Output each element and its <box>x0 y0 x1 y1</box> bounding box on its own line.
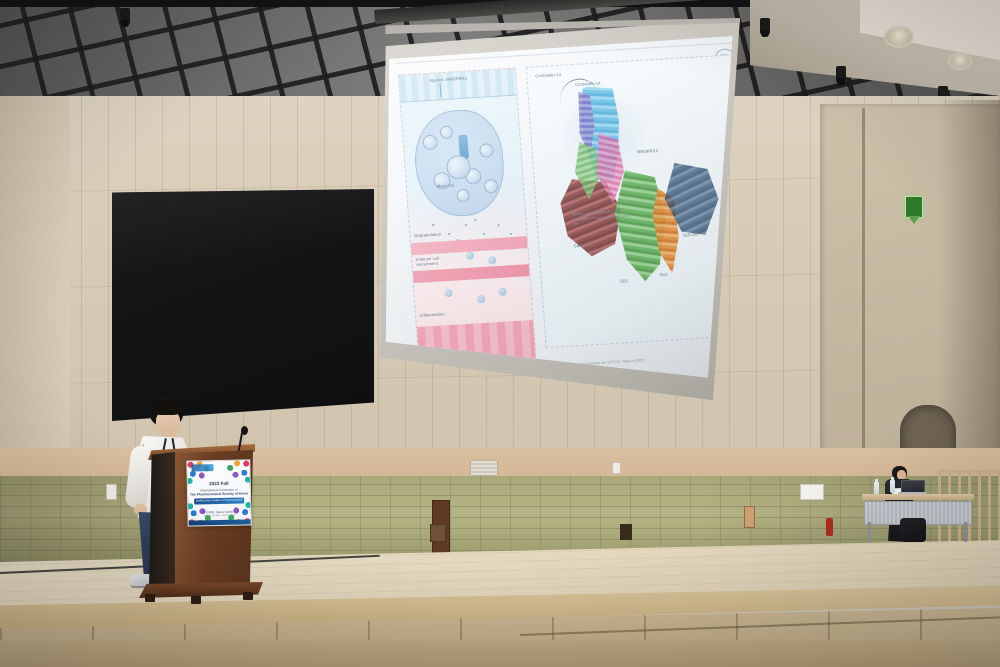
stage-floor-box <box>620 524 632 540</box>
water-bottle-icon <box>890 480 895 493</box>
can-light-icon <box>884 26 914 48</box>
can-light-icon <box>948 52 972 70</box>
ligand-label: Cortistatin-14 <box>535 72 561 79</box>
subpanel-ligand-label: Cortistatin-14 <box>575 80 601 87</box>
exit-sign-icon <box>905 196 923 218</box>
tissue-band <box>413 264 530 283</box>
podium-caster <box>191 596 201 604</box>
right-wall-edge <box>862 108 865 458</box>
panel-sheen <box>112 189 374 421</box>
conference-banner: 2023 Fall International Convention of Th… <box>186 459 251 526</box>
table-leg <box>868 522 871 542</box>
banner-theme-strip: Building the Frontiers of Pharmaceutical… <box>194 497 244 504</box>
presenter-fringe <box>151 400 182 415</box>
mast-cell-label: Mast cell <box>437 183 454 189</box>
binding-pocket-panel: Cortistatin-14 Binding pocket of MRGPRX2… <box>563 77 639 250</box>
microphone-icon <box>241 426 248 435</box>
granule <box>484 179 499 194</box>
stage-floor-box <box>430 524 446 542</box>
immune-cell-icon <box>444 289 453 297</box>
immune-cell-icon <box>498 288 507 296</box>
banner-year: 2023 Fall <box>188 480 250 486</box>
immune-cell-icon <box>477 295 486 303</box>
granule <box>456 189 470 203</box>
psk-logo-icon <box>191 464 213 471</box>
table-leg <box>964 522 967 542</box>
receptor-label: MRGPRX2 <box>637 148 658 154</box>
granule <box>422 134 438 150</box>
wall-vent-icon <box>470 460 498 476</box>
scfv-label: ScFv16 <box>683 232 698 238</box>
recruitment-label: Immune cell recruitment <box>416 254 459 267</box>
wall-notice-sign <box>800 484 824 500</box>
projected-slide-area: Structure and function of Mas-related G … <box>384 34 736 392</box>
fire-extinguisher-icon <box>826 518 833 536</box>
subpanel-caption: Binding pocket of MRGPRX2 with Cortistat… <box>572 209 635 228</box>
podium-caster <box>243 592 253 600</box>
projection-screen[interactable]: Structure and function of Mas-related G … <box>380 18 740 408</box>
stage-floor-box <box>744 506 755 528</box>
mast-cell-panel: Agonist: MRGPRX2 Mast cell D <box>398 68 537 368</box>
hall-floor <box>0 640 1000 667</box>
immune-cell-icon <box>466 251 475 259</box>
immune-cell-icon <box>488 256 497 264</box>
podium: 2023 Fall International Convention of Th… <box>143 450 263 605</box>
lecture-hall-photo: Structure and function of Mas-related G … <box>0 0 1000 667</box>
mast-cell-body <box>412 108 507 219</box>
equipment-bag <box>900 518 926 542</box>
table-top <box>862 494 974 500</box>
spotlight-icon <box>836 66 846 82</box>
g-gamma-label: Gγ1 <box>660 272 668 278</box>
banner-line-2: The Pharmaceutical Society of Korea <box>188 491 250 496</box>
wall-plate-icon <box>612 462 621 474</box>
banner-footer-bar <box>189 519 251 525</box>
epithelium-layer <box>399 69 517 103</box>
spotlight-icon <box>120 8 130 24</box>
slide: Structure and function of Mas-related G … <box>384 34 736 392</box>
podium-shadow-face <box>149 452 175 590</box>
g-beta-label: Gβ1 <box>620 278 628 284</box>
granule <box>479 143 494 158</box>
podium-caster <box>145 594 155 602</box>
left-pillar <box>0 96 70 496</box>
spotlight-icon <box>760 18 770 34</box>
black-acoustic-panel <box>112 189 374 421</box>
inflammation-label: Inflammation <box>420 311 445 318</box>
granule <box>440 126 454 140</box>
